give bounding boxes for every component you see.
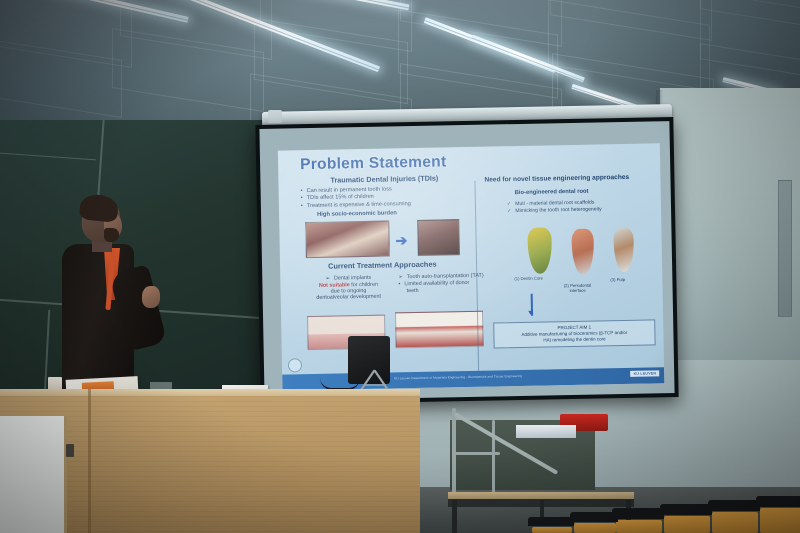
monitor-stand: [358, 369, 392, 391]
projection-screen: Problem Statement Traumatic Dental Injur…: [255, 117, 678, 405]
screen-housing-cap: [268, 110, 282, 123]
bullet-dot: •: [301, 188, 303, 195]
university-logo: [288, 358, 302, 372]
arrow-icon: ➔: [395, 232, 407, 249]
auditorium-chair: [660, 504, 712, 533]
stair-rail-horizontal: [452, 452, 500, 455]
tooth-dentin-core: [527, 227, 552, 273]
treatment-right-col: ➢ Tooth auto-transplantation (TAT) • Lim…: [398, 273, 484, 295]
wall-panel: [778, 180, 792, 317]
right-checks: ✓ Muti - material dental root scaffolds …: [507, 198, 657, 214]
auditorium-chair: [612, 508, 664, 533]
treatment-item: teeth: [399, 287, 485, 295]
dental-photo-after: [417, 219, 460, 256]
tooth-label-2: (2) Periodontal interface: [556, 282, 598, 293]
bullet-dot: •: [301, 196, 303, 203]
auditorium-chair: [708, 500, 760, 533]
screen-surface: Problem Statement Traumatic Dental Injur…: [259, 121, 674, 401]
presentation-slide: Problem Statement Traumatic Dental Injur…: [278, 143, 665, 390]
lecture-hall-photo: Problem Statement Traumatic Dental Injur…: [0, 0, 800, 533]
section-heading: Current Treatment Approaches: [328, 260, 437, 271]
paper-stack: [516, 425, 576, 438]
treatment-left-col: ➢ Dental implants Not suitable for child…: [302, 274, 394, 301]
check-text: Mimicking the tooth root heterogeneity: [515, 206, 601, 214]
bullet-text: Treatment is expensive & time-consuming: [307, 201, 411, 210]
tooth-label-1: (1) Dentin Core: [514, 276, 543, 282]
bullet-dot: •: [301, 203, 303, 210]
auditorium-chair: [528, 517, 574, 533]
right-subheading: Bio-engineered dental root: [515, 189, 589, 196]
arrow-bullet: ➢: [398, 274, 403, 281]
dental-photo-before: [305, 220, 390, 258]
stair-rail-post: [492, 420, 495, 500]
left-heading: Traumatic Dental Injuries (TDIs): [330, 174, 438, 185]
right-heading: Need for novel tissue engineering approa…: [484, 174, 629, 184]
arrow-bullet: ➢: [325, 276, 330, 283]
auditorium-chair: [570, 512, 618, 533]
transplantation-photo: [395, 311, 484, 349]
tooth-label-3: (3) Pulp: [610, 277, 625, 282]
whiteboard-panel: [0, 416, 67, 533]
footer-text: KU Leuven Department of Materials Engine…: [394, 374, 522, 380]
left-emphasis: High socio-economic burden: [317, 210, 397, 218]
bullet-dot: •: [398, 281, 400, 288]
presenter-beard: [104, 228, 119, 242]
project-aim-box: PROJECT AIM 1 Additive manufacturing of …: [493, 319, 655, 348]
tooth-periodontal: [571, 229, 594, 275]
treatment-item: dentoalveolar development: [303, 294, 395, 302]
down-arrow-icon: ▼: [527, 310, 534, 317]
lectern-seam: [88, 389, 91, 533]
table-leg: [452, 500, 457, 533]
tooth-pulp: [613, 228, 634, 272]
slide-title: Problem Statement: [300, 153, 447, 174]
check-icon: ✓: [507, 208, 511, 215]
auditorium-chair: [756, 496, 800, 533]
panel-clip: [66, 444, 74, 457]
presenter-hand: [142, 286, 160, 308]
left-bullets: • Can result in permanent tooth loss • T…: [301, 185, 473, 210]
ku-leuven-logo: KU LEUVEN: [631, 370, 660, 377]
chalk-tray: [150, 382, 172, 389]
treatment-item: Limited availability of donor: [404, 280, 469, 288]
